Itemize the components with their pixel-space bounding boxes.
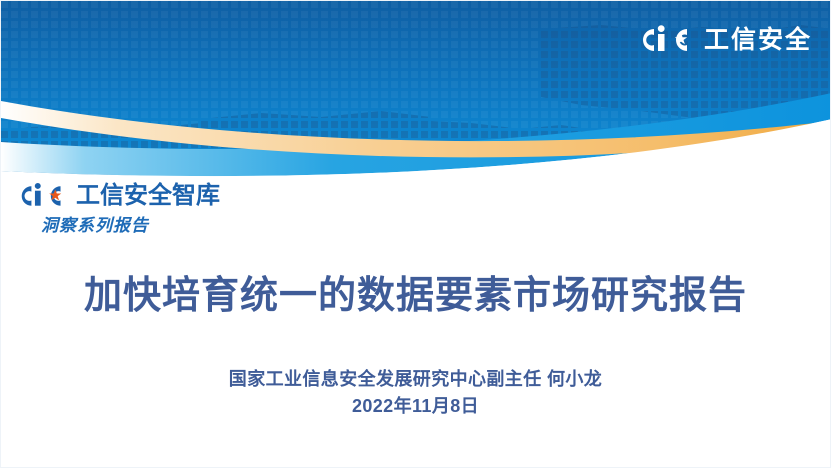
brand-series-label: 洞察系列报告 [41,215,220,237]
brand-logo-row: 工信安全智库 [13,181,220,211]
date-line: 2022年11月8日 [1,393,830,419]
header-logo: 工信安全 [635,21,812,59]
byline: 国家工业信息安全发展研究中心副主任 何小龙 2022年11月8日 [1,366,830,419]
page-title: 加快培育统一的数据要素市场研究报告 [1,273,830,319]
report-cover-slide: 工信安全 工信安全智库 洞察系列报告 加快培育统一的数据要素市场研究报告 国家工… [0,0,831,468]
cic-star-logo-icon [635,23,697,57]
brand-logo-block: 工信安全智库 洞察系列报告 [13,181,220,237]
brand-wordmark: 工信安全智库 [76,181,220,211]
header-logo-wordmark: 工信安全 [704,23,812,57]
presenter-line: 国家工业信息安全发展研究中心副主任 何小龙 [229,369,602,389]
cic-star-logo-icon [13,181,71,211]
